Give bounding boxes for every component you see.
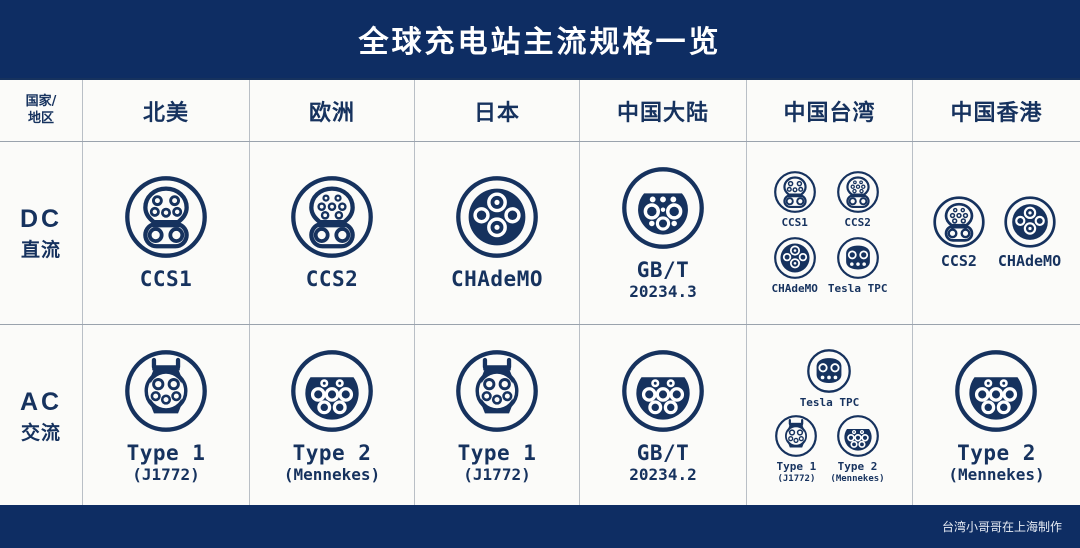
connector-name: CCS1 bbox=[140, 267, 193, 291]
connector-name: CCS2 bbox=[941, 253, 977, 270]
connector-gbt-dc: GB/T 20234.3 bbox=[620, 165, 706, 302]
connector-chademo: CHAdeMO bbox=[998, 195, 1061, 270]
cell-ac-japan: Type 1 (J1772) bbox=[415, 325, 580, 507]
chademo-connector-icon bbox=[1003, 195, 1057, 249]
row-label-ac-cn: 交流 bbox=[21, 418, 61, 445]
connector-sub: (Mennekes) bbox=[948, 466, 1044, 484]
column-header-japan: 日本 bbox=[415, 80, 580, 141]
chademo-connector-icon bbox=[454, 174, 540, 260]
connector-type2: Type 2 (Mennekes) bbox=[948, 348, 1044, 485]
cell-ac-china-taiwan: Tesla TPC bbox=[747, 325, 913, 507]
cell-dc-china-taiwan: CCS1 bbox=[747, 142, 913, 324]
footer-bar: 台湾小哥哥在上海制作 bbox=[0, 505, 1080, 548]
connector-ccs1: CCS1 bbox=[123, 174, 209, 291]
connector-name: CHAdeMO bbox=[998, 253, 1061, 270]
title-bar: 全球充电站主流规格一览 bbox=[0, 0, 1080, 78]
connector-name: Type 1 bbox=[127, 441, 206, 465]
corner-label-line1: 国家/ bbox=[26, 94, 57, 109]
row-label-ac-en: AC bbox=[20, 388, 62, 417]
table-header-row: 国家/ 地区 北美 欧洲 日本 中国大陆 中国台湾 中国香港 bbox=[0, 80, 1080, 142]
connector-ccs2: CCS2 bbox=[836, 170, 880, 230]
cell-dc-europe: CCS2 bbox=[250, 142, 415, 324]
tesla-tpc-connector-icon bbox=[806, 348, 852, 394]
connector-name: CHAdeMO bbox=[772, 283, 818, 296]
column-header-europe: 欧洲 bbox=[250, 80, 415, 141]
chademo-connector-icon bbox=[773, 236, 817, 280]
ccs2-connector-icon bbox=[932, 195, 986, 249]
connector-name: Tesla TPC bbox=[828, 283, 888, 296]
cell-ac-europe: Type 2 (Mennekes) bbox=[250, 325, 415, 507]
connector-tesla-tpc: Tesla TPC bbox=[828, 236, 888, 296]
cell-dc-japan: CHAdeMO bbox=[415, 142, 580, 324]
row-label-dc: DC 直流 bbox=[0, 142, 83, 324]
column-header-label: 欧洲 bbox=[309, 95, 355, 127]
connector-name: CHAdeMO bbox=[451, 267, 543, 291]
connector-type1: Type 1 (J1772) bbox=[774, 414, 818, 484]
ccs2-connector-icon bbox=[836, 170, 880, 214]
footer-credit: 台湾小哥哥在上海制作 bbox=[942, 518, 1062, 535]
connector-sub: (J1772) bbox=[463, 466, 530, 484]
column-header-label: 中国大陆 bbox=[617, 95, 709, 127]
cell-dc-china-hongkong: CCS2 bbox=[913, 142, 1080, 324]
connector-name: Type 1 bbox=[458, 441, 537, 465]
connector-ccs2: CCS2 bbox=[932, 195, 986, 270]
connector-name: Tesla TPC bbox=[800, 397, 860, 410]
row-label-dc-en: DC bbox=[20, 205, 62, 234]
row-label-dc-cn: 直流 bbox=[21, 235, 61, 262]
column-header-china-mainland: 中国大陆 bbox=[580, 80, 747, 141]
table-row-ac: AC 交流 bbox=[0, 325, 1080, 507]
type2-mennekes-connector-icon bbox=[289, 348, 375, 434]
row-label-ac: AC 交流 bbox=[0, 325, 83, 507]
column-header-china-taiwan: 中国台湾 bbox=[747, 80, 913, 141]
column-header-label: 日本 bbox=[474, 95, 520, 127]
connector-name: Type 1 bbox=[777, 461, 817, 474]
ccs1-connector-icon bbox=[123, 174, 209, 260]
infographic-page: 全球充电站主流规格一览 国家/ 地区 北美 欧洲 日本 中国大陆 bbox=[0, 0, 1080, 548]
type2-mennekes-connector-icon bbox=[836, 414, 880, 458]
gbt-ac-connector-icon bbox=[620, 348, 706, 434]
type2-mennekes-connector-icon bbox=[953, 348, 1039, 434]
page-title: 全球充电站主流规格一览 bbox=[359, 17, 722, 61]
connector-ccs2: CCS2 bbox=[289, 174, 375, 291]
connector-sub: 20234.3 bbox=[629, 283, 696, 301]
connector-type2: Type 2 (Mennekes) bbox=[284, 348, 380, 485]
connector-name: CCS1 bbox=[781, 217, 808, 230]
cell-dc-china-mainland: GB/T 20234.3 bbox=[580, 142, 747, 324]
connector-name: Type 2 bbox=[957, 441, 1036, 465]
connector-stack: Tesla TPC bbox=[774, 348, 884, 485]
spec-table: 国家/ 地区 北美 欧洲 日本 中国大陆 中国台湾 中国香港 bbox=[0, 78, 1080, 507]
connector-sub: (Mennekes) bbox=[830, 474, 884, 484]
column-header-north-america: 北美 bbox=[83, 80, 250, 141]
tesla-tpc-connector-icon bbox=[836, 236, 880, 280]
connector-name: Type 2 bbox=[293, 441, 372, 465]
connector-tesla-tpc: Tesla TPC bbox=[800, 348, 860, 410]
column-header-china-hongkong: 中国香港 bbox=[913, 80, 1080, 141]
column-header-label: 中国台湾 bbox=[783, 95, 875, 127]
connector-pair: Type 1 (J1772) bbox=[774, 414, 884, 484]
ccs2-connector-icon bbox=[289, 174, 375, 260]
cell-ac-china-hongkong: Type 2 (Mennekes) bbox=[913, 325, 1080, 507]
type1-j1772-connector-icon bbox=[454, 348, 540, 434]
connector-type2: Type 2 (Mennekes) bbox=[830, 414, 884, 484]
connector-type1: Type 1 (J1772) bbox=[123, 348, 209, 485]
column-header-label: 北美 bbox=[143, 95, 189, 127]
connector-name: GB/T bbox=[637, 441, 690, 465]
connector-name: CCS2 bbox=[306, 267, 359, 291]
type1-j1772-connector-icon bbox=[774, 414, 818, 458]
cell-ac-north-america: Type 1 (J1772) bbox=[83, 325, 250, 507]
table-row-dc: DC 直流 bbox=[0, 142, 1080, 325]
connector-type1: Type 1 (J1772) bbox=[454, 348, 540, 485]
header-corner-cell: 国家/ 地区 bbox=[0, 80, 83, 141]
connector-sub: 20234.2 bbox=[629, 466, 696, 484]
cell-dc-north-america: CCS1 bbox=[83, 142, 250, 324]
connector-sub: (J1772) bbox=[132, 466, 199, 484]
type1-j1772-connector-icon bbox=[123, 348, 209, 434]
connector-name: Type 2 bbox=[838, 461, 878, 474]
connector-chademo: CHAdeMO bbox=[772, 236, 818, 296]
cell-ac-china-mainland: GB/T 20234.2 bbox=[580, 325, 747, 507]
gbt-dc-connector-icon bbox=[620, 165, 706, 251]
connector-sub: (J1772) bbox=[777, 474, 815, 484]
connector-grid: CCS1 bbox=[772, 170, 888, 295]
connector-gbt-ac: GB/T 20234.2 bbox=[620, 348, 706, 485]
connector-ccs1: CCS1 bbox=[773, 170, 817, 230]
column-header-label: 中国香港 bbox=[950, 95, 1042, 127]
connector-pair: CCS2 bbox=[932, 195, 1061, 270]
corner-label-line2: 地区 bbox=[28, 111, 54, 126]
connector-sub: (Mennekes) bbox=[284, 466, 380, 484]
ccs1-connector-icon bbox=[773, 170, 817, 214]
connector-name: GB/T bbox=[637, 258, 690, 282]
connector-name: CCS2 bbox=[844, 217, 871, 230]
connector-chademo: CHAdeMO bbox=[451, 174, 543, 291]
